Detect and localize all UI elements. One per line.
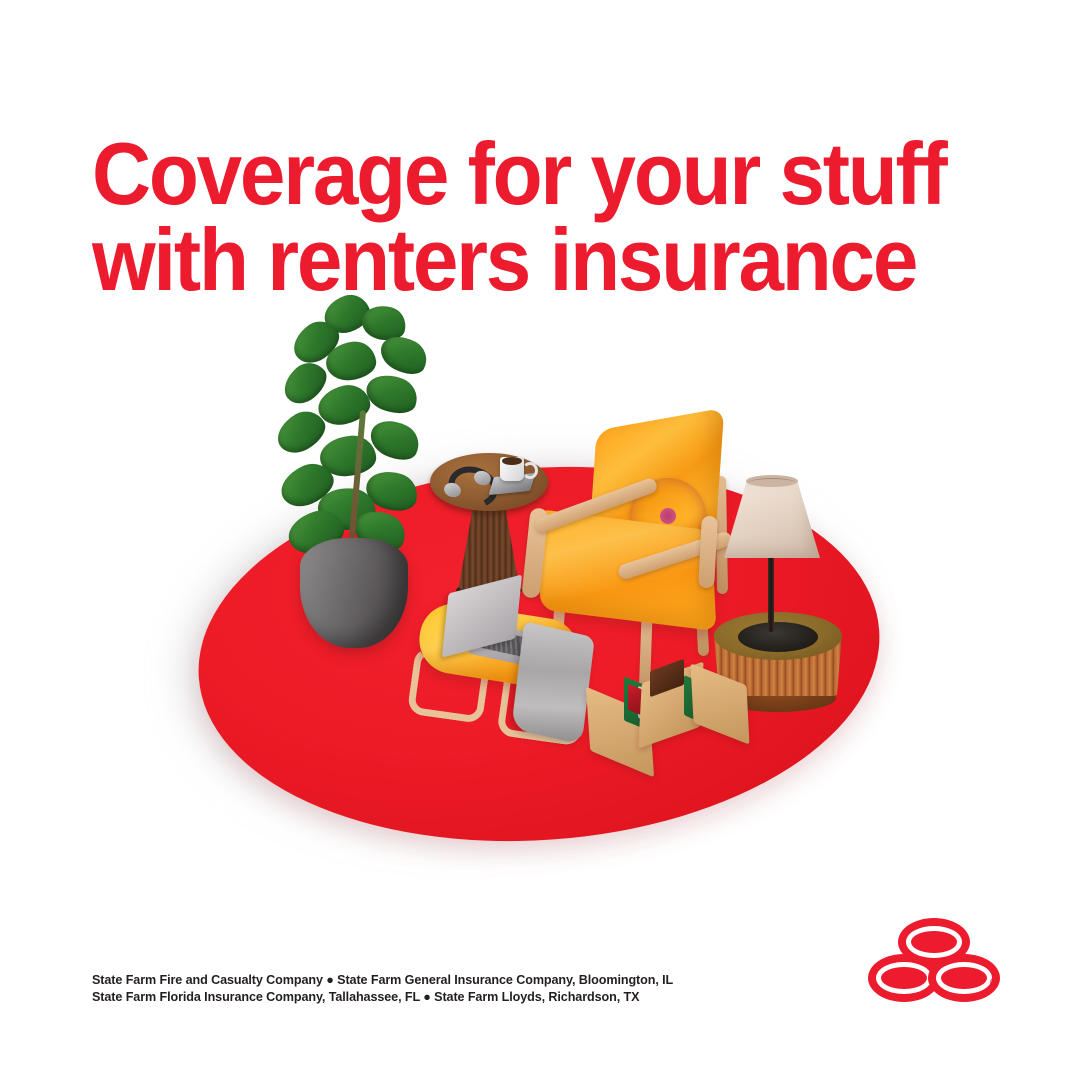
ottoman-bench xyxy=(405,585,605,760)
table-lamp xyxy=(712,480,822,690)
coffee-surface xyxy=(502,457,522,465)
registered-trademark-mark: ® xyxy=(990,978,998,989)
lamp-shade-crossbar xyxy=(748,478,796,488)
state-farm-three-ovals-logo[interactable]: ® xyxy=(868,918,1000,1004)
ad-canvas: Coverage for your stuff with renters ins… xyxy=(0,0,1080,1080)
lamp-shade xyxy=(724,480,820,558)
lamp-stem xyxy=(768,554,774,632)
legal-line-1: State Farm Fire and Casualty Company ● S… xyxy=(92,972,673,989)
pillow-center-tuft xyxy=(660,508,676,524)
lamp-base-disc xyxy=(738,622,818,652)
leaning-picture-frames xyxy=(588,665,758,775)
legal-line-2: State Farm Florida Insurance Company, Ta… xyxy=(92,989,673,1006)
living-room-scene xyxy=(0,250,1080,890)
legal-disclaimer: State Farm Fire and Casualty Company ● S… xyxy=(92,972,673,1006)
grey-knit-blanket xyxy=(511,621,595,744)
headline-line-1: Coverage for your stuff xyxy=(92,131,929,217)
plant-pot xyxy=(300,538,408,648)
picture-frame-back-right xyxy=(691,663,750,744)
